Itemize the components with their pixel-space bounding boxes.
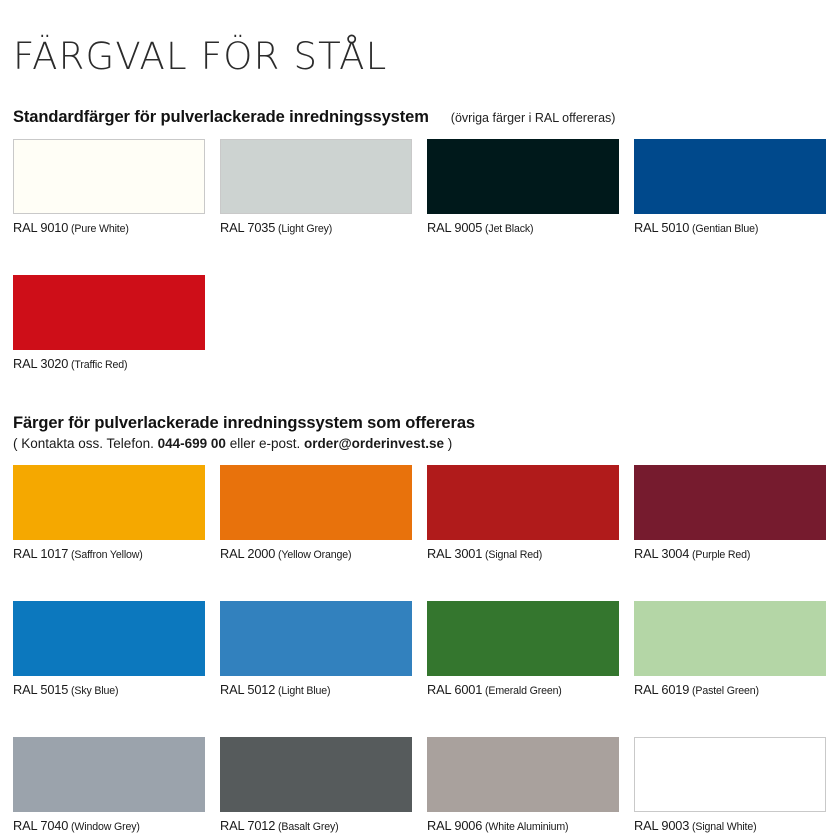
color-swatch-name: (Basalt Grey) — [275, 821, 338, 833]
contact-info-line: ( Kontakta oss. Telefon. 044-699 00 elle… — [13, 436, 840, 451]
color-swatch-chip[interactable] — [220, 737, 412, 812]
color-swatch-cell[interactable]: RAL 9006 (White Aluminium) — [427, 737, 619, 833]
color-swatch-chip[interactable] — [13, 275, 205, 350]
color-swatch-name: (Window Grey) — [68, 821, 139, 833]
color-swatch-name: (Saffron Yellow) — [68, 549, 142, 561]
color-swatch-name: (Pastel Green) — [689, 685, 759, 697]
color-swatch-code: RAL 6001 — [427, 682, 482, 697]
color-swatch-name: (Emerald Green) — [482, 685, 561, 697]
color-swatch-code: RAL 5012 — [220, 682, 275, 697]
section-standard-title: Standardfärger för pulverlackerade inred… — [13, 108, 429, 127]
contact-phone[interactable]: 044-699 00 — [158, 436, 226, 451]
color-swatch-label: RAL 5012 (Light Blue) — [220, 676, 412, 697]
color-swatch-label: RAL 9006 (White Aluminium) — [427, 812, 619, 833]
color-swatch-name: (Sky Blue) — [68, 685, 118, 697]
contact-suffix: ) — [448, 436, 453, 451]
color-swatch-label: RAL 3020 (Traffic Red) — [13, 350, 205, 371]
color-swatch-code: RAL 9010 — [13, 220, 68, 235]
standard-swatch-grid: RAL 9010 (Pure White)RAL 7035 (Light Gre… — [13, 139, 840, 371]
color-swatch-cell[interactable]: RAL 5010 (Gentian Blue) — [634, 139, 826, 235]
color-swatch-chip[interactable] — [427, 737, 619, 812]
color-swatch-cell[interactable]: RAL 9003 (Signal White) — [634, 737, 826, 833]
color-swatch-chip[interactable] — [634, 465, 826, 540]
color-swatch-label: RAL 3004 (Purple Red) — [634, 540, 826, 561]
color-swatch-chip[interactable] — [13, 465, 205, 540]
color-swatch-name: (Signal White) — [689, 821, 756, 833]
color-swatch-label: RAL 7040 (Window Grey) — [13, 812, 205, 833]
section-standard-colors: Standardfärger för pulverlackerade inred… — [13, 108, 840, 371]
color-selection-page: FÄRGVAL FÖR STÅL Standardfärger för pulv… — [0, 0, 840, 840]
contact-prefix: ( Kontakta oss. Telefon. — [13, 436, 154, 451]
color-swatch-name: (Yellow Orange) — [275, 549, 351, 561]
color-swatch-chip[interactable] — [13, 139, 205, 214]
color-swatch-cell[interactable]: RAL 6019 (Pastel Green) — [634, 601, 826, 697]
color-swatch-chip[interactable] — [13, 601, 205, 676]
color-swatch-chip[interactable] — [634, 601, 826, 676]
color-swatch-label: RAL 5015 (Sky Blue) — [13, 676, 205, 697]
color-swatch-cell[interactable]: RAL 5015 (Sky Blue) — [13, 601, 205, 697]
color-swatch-label: RAL 9003 (Signal White) — [634, 812, 826, 833]
color-swatch-cell[interactable]: RAL 3020 (Traffic Red) — [13, 275, 205, 371]
color-swatch-chip[interactable] — [634, 737, 826, 812]
color-swatch-code: RAL 2000 — [220, 546, 275, 561]
color-swatch-cell[interactable]: RAL 5012 (Light Blue) — [220, 601, 412, 697]
color-swatch-chip[interactable] — [220, 601, 412, 676]
color-swatch-code: RAL 9006 — [427, 818, 482, 833]
color-swatch-code: RAL 3020 — [13, 356, 68, 371]
section-offered-title: Färger för pulverlackerade inredningssys… — [13, 414, 475, 433]
color-swatch-code: RAL 3001 — [427, 546, 482, 561]
color-swatch-code: RAL 7012 — [220, 818, 275, 833]
color-swatch-cell[interactable]: RAL 7035 (Light Grey) — [220, 139, 412, 235]
color-swatch-label: RAL 7035 (Light Grey) — [220, 214, 412, 235]
color-swatch-code: RAL 5015 — [13, 682, 68, 697]
color-swatch-code: RAL 7040 — [13, 818, 68, 833]
color-swatch-name: (Jet Black) — [482, 223, 533, 235]
color-swatch-cell[interactable]: RAL 7012 (Basalt Grey) — [220, 737, 412, 833]
color-swatch-label: RAL 6019 (Pastel Green) — [634, 676, 826, 697]
contact-email[interactable]: order@orderinvest.se — [304, 436, 444, 451]
color-swatch-cell[interactable]: RAL 2000 (Yellow Orange) — [220, 465, 412, 561]
color-swatch-chip[interactable] — [220, 465, 412, 540]
color-swatch-label: RAL 3001 (Signal Red) — [427, 540, 619, 561]
color-swatch-name: (Gentian Blue) — [689, 223, 758, 235]
color-swatch-name: (White Aluminium) — [482, 821, 568, 833]
color-swatch-name: (Light Grey) — [275, 223, 332, 235]
color-swatch-name: (Traffic Red) — [68, 359, 127, 371]
color-swatch-cell[interactable]: RAL 3004 (Purple Red) — [634, 465, 826, 561]
color-swatch-chip[interactable] — [427, 601, 619, 676]
color-swatch-name: (Signal Red) — [482, 549, 542, 561]
color-swatch-label: RAL 6001 (Emerald Green) — [427, 676, 619, 697]
section-offered-colors: Färger för pulverlackerade inredningssys… — [13, 414, 840, 833]
color-swatch-cell[interactable]: RAL 9010 (Pure White) — [13, 139, 205, 235]
color-swatch-code: RAL 9005 — [427, 220, 482, 235]
section-standard-note: (övriga färger i RAL offereras) — [451, 111, 616, 125]
color-swatch-code: RAL 1017 — [13, 546, 68, 561]
color-swatch-name: (Pure White) — [68, 223, 128, 235]
color-swatch-cell[interactable]: RAL 3001 (Signal Red) — [427, 465, 619, 561]
color-swatch-chip[interactable] — [220, 139, 412, 214]
color-swatch-label: RAL 9005 (Jet Black) — [427, 214, 619, 235]
color-swatch-code: RAL 7035 — [220, 220, 275, 235]
section-offered-header: Färger för pulverlackerade inredningssys… — [13, 414, 840, 433]
color-swatch-label: RAL 5010 (Gentian Blue) — [634, 214, 826, 235]
color-swatch-chip[interactable] — [634, 139, 826, 214]
color-swatch-cell[interactable]: RAL 6001 (Emerald Green) — [427, 601, 619, 697]
color-swatch-cell[interactable]: RAL 7040 (Window Grey) — [13, 737, 205, 833]
color-swatch-label: RAL 1017 (Saffron Yellow) — [13, 540, 205, 561]
section-standard-header: Standardfärger för pulverlackerade inred… — [13, 108, 840, 127]
color-swatch-cell[interactable]: RAL 9005 (Jet Black) — [427, 139, 619, 235]
color-swatch-chip[interactable] — [427, 465, 619, 540]
color-swatch-cell[interactable]: RAL 1017 (Saffron Yellow) — [13, 465, 205, 561]
contact-middle: eller e-post. — [230, 436, 301, 451]
offered-swatch-grid: RAL 1017 (Saffron Yellow)RAL 2000 (Yello… — [13, 465, 840, 833]
color-swatch-label: RAL 9010 (Pure White) — [13, 214, 205, 235]
color-swatch-label: RAL 7012 (Basalt Grey) — [220, 812, 412, 833]
color-swatch-label: RAL 2000 (Yellow Orange) — [220, 540, 412, 561]
color-swatch-code: RAL 6019 — [634, 682, 689, 697]
color-swatch-code: RAL 3004 — [634, 546, 689, 561]
color-swatch-chip[interactable] — [427, 139, 619, 214]
color-swatch-name: (Light Blue) — [275, 685, 330, 697]
color-swatch-code: RAL 9003 — [634, 818, 689, 833]
color-swatch-code: RAL 5010 — [634, 220, 689, 235]
page-title: FÄRGVAL FÖR STÅL — [13, 0, 840, 77]
color-swatch-name: (Purple Red) — [689, 549, 750, 561]
color-swatch-chip[interactable] — [13, 737, 205, 812]
